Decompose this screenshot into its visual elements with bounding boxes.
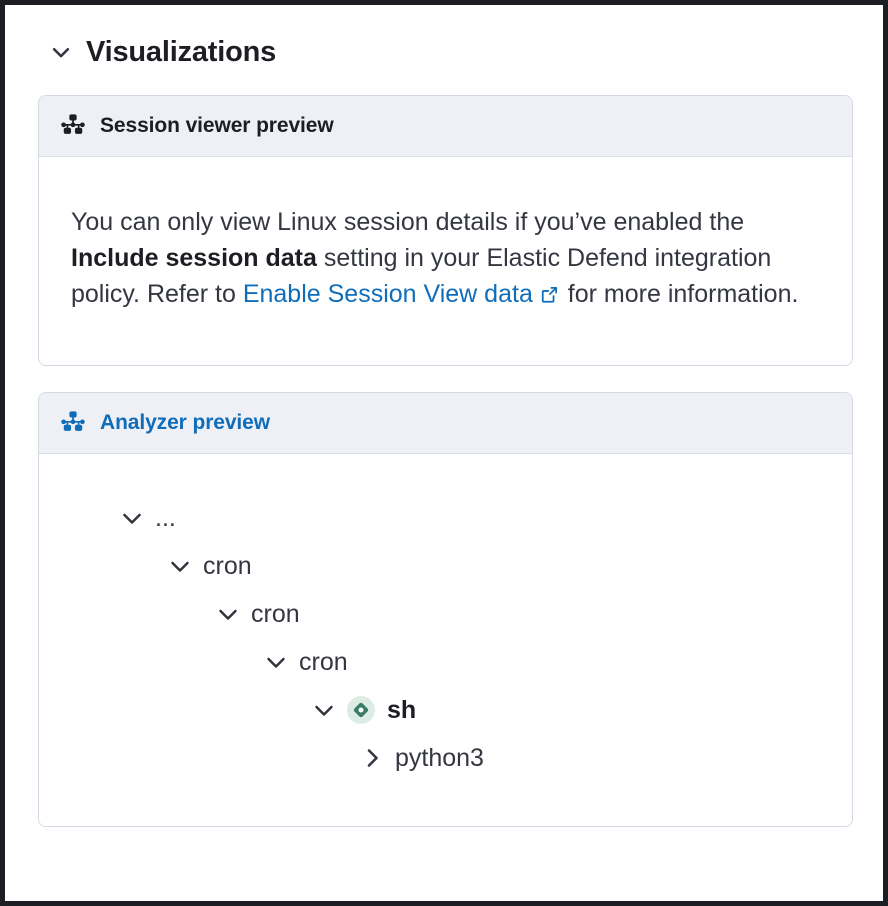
analyzer-tree-node-label: sh [387, 695, 416, 725]
analyzer-process-tree: ...croncroncronshpython3 [71, 476, 828, 800]
chevron-down-icon[interactable] [119, 505, 145, 531]
analyzer-tree-node-label: ... [155, 503, 176, 533]
analyzer-tree-node-label: cron [203, 551, 252, 581]
app-frame: Visualizations [0, 0, 888, 906]
analyzer-preview-card: Analyzer preview ...croncroncronshpython… [38, 392, 853, 827]
analyzer-tree-node[interactable]: cron [167, 542, 828, 590]
visualizations-panel: Visualizations [5, 5, 883, 901]
analyzer-icon [60, 410, 86, 436]
chevron-right-icon[interactable] [359, 745, 385, 771]
callout-text-part-1: You can only view Linux session details … [71, 208, 744, 236]
analyzer-card-body: ...croncroncronshpython3 [39, 454, 852, 826]
analyzer-tree-node[interactable]: cron [215, 590, 828, 638]
chevron-down-icon[interactable] [311, 697, 337, 723]
session-viewer-preview-card: Session viewer preview You can only view… [38, 95, 853, 366]
analyzer-tree-node-label: cron [299, 647, 348, 677]
analyzer-tree-node-label: cron [251, 599, 300, 629]
analyzer-card-title[interactable]: Analyzer preview [100, 410, 270, 436]
chevron-down-icon[interactable] [263, 649, 289, 675]
analyzer-tree-node-label: python3 [395, 743, 484, 773]
page-title: Visualizations [86, 35, 276, 69]
analyzer-tree-node[interactable]: python3 [359, 734, 828, 782]
chevron-down-icon[interactable] [167, 553, 193, 579]
session-viewer-icon [60, 113, 86, 139]
session-viewer-card-title: Session viewer preview [100, 113, 334, 139]
external-link-icon [540, 278, 559, 314]
session-data-callout: You can only view Linux session details … [71, 204, 828, 314]
analyzer-card-header[interactable]: Analyzer preview [39, 393, 852, 454]
process-node-icon [347, 696, 375, 724]
enable-session-view-data-link[interactable]: Enable Session View data [243, 280, 533, 308]
analyzer-tree-node[interactable]: sh [311, 686, 828, 734]
analyzer-tree-node[interactable]: cron [263, 638, 828, 686]
session-viewer-card-header[interactable]: Session viewer preview [39, 96, 852, 157]
visualizations-section-toggle[interactable]: Visualizations [38, 31, 853, 69]
chevron-down-icon [50, 41, 72, 63]
analyzer-tree-node[interactable]: ... [119, 494, 828, 542]
callout-emphasis: Include session data [71, 244, 317, 272]
chevron-down-icon[interactable] [215, 601, 241, 627]
session-viewer-card-body: You can only view Linux session details … [39, 157, 852, 365]
callout-text-part-3: for more information. [561, 280, 799, 308]
